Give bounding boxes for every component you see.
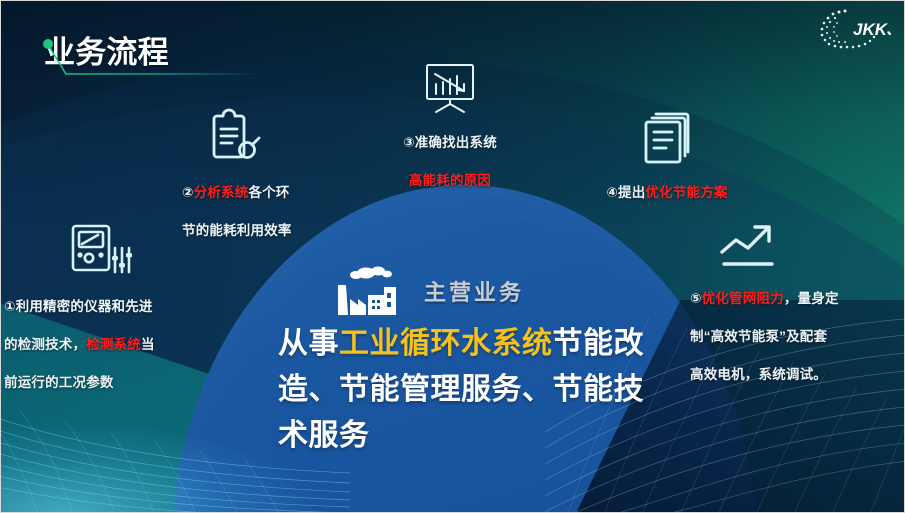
step5-seg-4: 高效电机，系统调试。	[690, 367, 827, 382]
process-step-1-text: ①利用精密的仪器和先进 的检测技术，检测系统当 前运行的工况参数	[4, 278, 244, 392]
mainbiz-line1-highlight: 工业循环水系统	[339, 327, 553, 360]
clipboard-search-icon	[210, 108, 262, 164]
main-business-label: 主营业务	[424, 275, 524, 307]
step3-seg-1: 高能耗的原因	[409, 173, 491, 188]
step4-seg-1: 优化节能方案	[645, 185, 727, 200]
step1-seg-2: 检测系统	[86, 337, 141, 352]
step1-seg-1: 的检测技术，	[4, 337, 86, 352]
process-step-3[interactable]: ③准确找出系统 高能耗的原因	[360, 62, 540, 190]
step5-seg-3: 制“高效节能泵”及配套	[690, 329, 827, 344]
step2-seg-2: 各个环	[248, 185, 289, 200]
step5-seg-1: 优化管网阻力	[702, 291, 784, 306]
company-logo[interactable]: JKKJ	[813, 6, 891, 50]
process-step-1[interactable]: ①利用精密的仪器和先进 的检测技术，检测系统当 前运行的工况参数	[4, 222, 244, 392]
logo-wordmark: JKKJ	[853, 20, 891, 39]
main-business-description: 从事工业循环水系统节能改 造、节能管理服务、节能技 术服务	[272, 321, 672, 459]
step2-seg-3: 节的能耗利用效率	[182, 223, 292, 238]
step1-seg-3: 当	[141, 337, 155, 352]
process-step-2-text: ②分析系统各个环 节的能耗利用效率	[182, 164, 350, 240]
process-step-3-text: ③准确找出系统 高能耗的原因	[360, 114, 540, 190]
process-step-5[interactable]: ⑤优化管网阻力，量身定 制“高效节能泵”及配套 高效电机，系统调试。	[690, 222, 905, 384]
process-step-4-text: ④提出优化节能方案	[572, 164, 762, 202]
mainbiz-line1-a: 从事	[278, 327, 339, 360]
step3-seg-0: ③准确找出系统	[403, 135, 497, 150]
step5-seg-0: ⑤	[690, 291, 702, 306]
process-step-2[interactable]: ②分析系统各个环 节的能耗利用效率	[182, 108, 350, 240]
trending-up-arrow-icon	[718, 222, 780, 270]
step1-seg-4: 前运行的工况参数	[4, 375, 114, 390]
multimeter-icon	[70, 222, 132, 278]
process-step-5-text: ⑤优化管网阻力，量身定 制“高效节能泵”及配套 高效电机，系统调试。	[690, 270, 905, 384]
mainbiz-line3: 术服务	[278, 419, 370, 452]
main-business-block[interactable]: 主营业务 从事工业循环水系统节能改 造、节能管理服务、节能技 术服务	[272, 263, 672, 459]
step5-seg-2: ，量身定	[784, 291, 839, 306]
documents-stack-icon	[642, 108, 692, 164]
main-business-header: 主营业务	[272, 263, 672, 319]
slide-canvas: JKKJ 业务流程	[0, 0, 905, 513]
mainbiz-line1-c: 节能改	[553, 327, 645, 360]
step2-seg-1: 分析系统	[194, 185, 249, 200]
step1-seg-0: ①利用精密的仪器和先进	[4, 299, 153, 314]
factory-icon	[330, 265, 410, 317]
step4-seg-0: ④提出	[606, 185, 645, 200]
step2-seg-0: ②	[182, 185, 194, 200]
process-step-4[interactable]: ④提出优化节能方案	[572, 108, 762, 202]
page-title-group: 业务流程	[44, 32, 169, 76]
mainbiz-line2: 造、节能管理服务、节能技	[278, 373, 644, 406]
page-title: 业务流程	[44, 32, 169, 74]
chart-board-decline-icon	[422, 62, 478, 114]
swirl-dots-logo-icon: JKKJ	[813, 6, 891, 50]
